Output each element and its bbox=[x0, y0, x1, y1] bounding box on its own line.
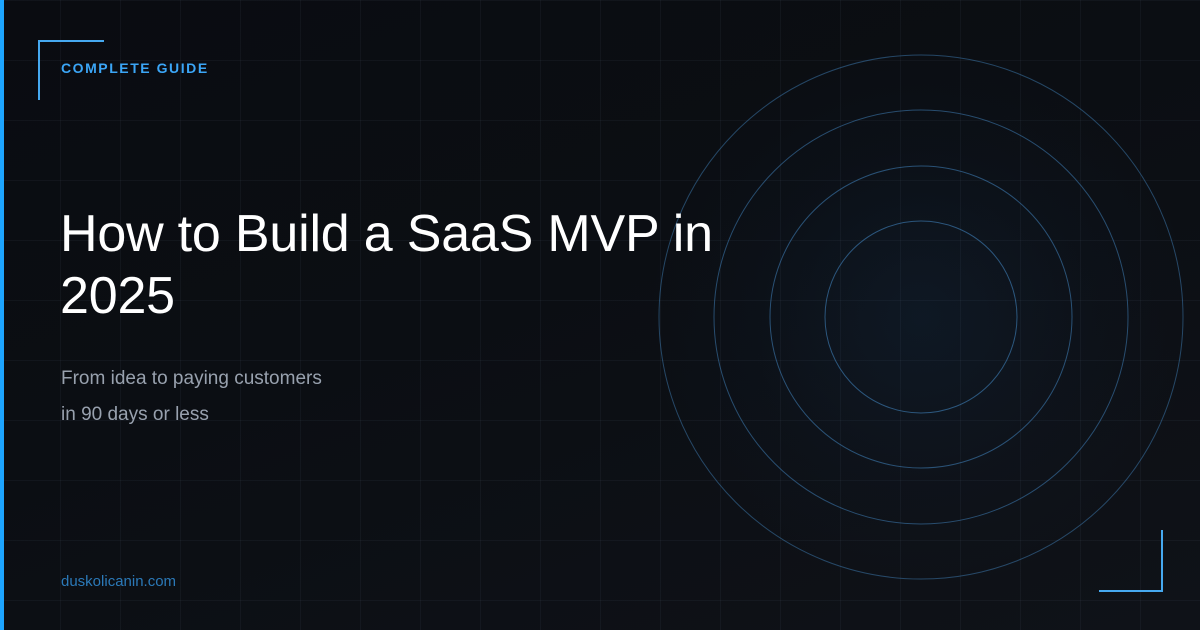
bottom-right-bracket-vertical bbox=[1161, 530, 1163, 592]
eyebrow-label: COMPLETE GUIDE bbox=[61, 59, 209, 77]
subtitle-line-1: From idea to paying customers bbox=[61, 361, 531, 397]
subtitle: From idea to paying customers in 90 days… bbox=[61, 361, 531, 433]
ring-3 bbox=[714, 110, 1128, 524]
top-left-bracket-vertical bbox=[38, 40, 40, 100]
content-block: COMPLETE GUIDE How to Build a SaaS MVP i… bbox=[60, 0, 760, 630]
bottom-right-bracket-horizontal bbox=[1099, 590, 1163, 592]
left-accent-bar bbox=[0, 0, 4, 630]
bottom-right-bracket bbox=[1099, 530, 1163, 592]
ring-1 bbox=[825, 221, 1017, 413]
subtitle-line-2: in 90 days or less bbox=[61, 397, 531, 433]
ring-2 bbox=[770, 166, 1072, 468]
page-title: How to Build a SaaS MVP in 2025 bbox=[60, 203, 750, 327]
og-card-canvas: COMPLETE GUIDE How to Build a SaaS MVP i… bbox=[0, 0, 1200, 630]
footer-domain: duskolicanin.com bbox=[61, 572, 176, 592]
